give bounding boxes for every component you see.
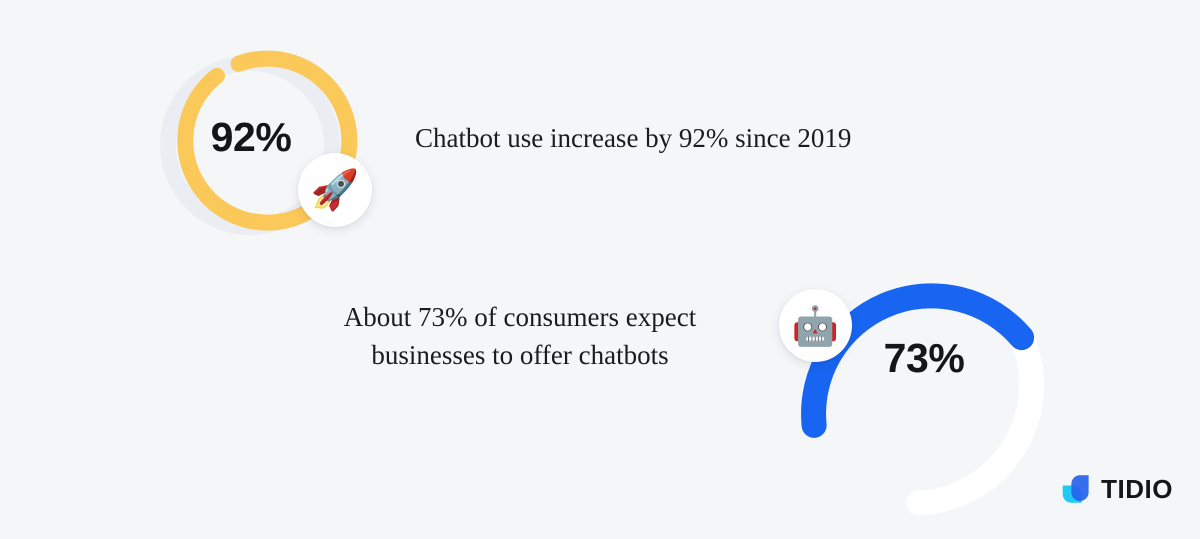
statement-consumers-expect-chatbots: About 73% of consumers expect businesses… bbox=[300, 298, 740, 374]
infographic-canvas: 92% 🚀 Chatbot use increase by 92% since … bbox=[0, 0, 1200, 539]
stat-card-chatbot-use-increase: 92% 🚀 bbox=[150, 30, 380, 270]
rocket-badge: 🚀 bbox=[298, 153, 372, 227]
logo-shape-blue bbox=[1071, 475, 1088, 501]
rocket-emoji: 🚀 bbox=[311, 171, 360, 210]
stat-card-consumers-expect-chatbots: 73% 🤖 bbox=[760, 240, 1090, 415]
robot-emoji: 🤖 bbox=[792, 307, 839, 345]
statement-chatbot-use-increase: Chatbot use increase by 92% since 2019 bbox=[415, 119, 935, 157]
tidio-logo-icon bbox=[1061, 471, 1092, 507]
donut-value-label-92: 92% bbox=[196, 113, 306, 161]
tidio-logo[interactable]: TIDIO bbox=[1061, 469, 1173, 509]
tidio-wordmark: TIDIO bbox=[1101, 476, 1173, 502]
gauge-value-label-73: 73% bbox=[868, 334, 980, 382]
robot-badge: 🤖 bbox=[779, 289, 852, 362]
